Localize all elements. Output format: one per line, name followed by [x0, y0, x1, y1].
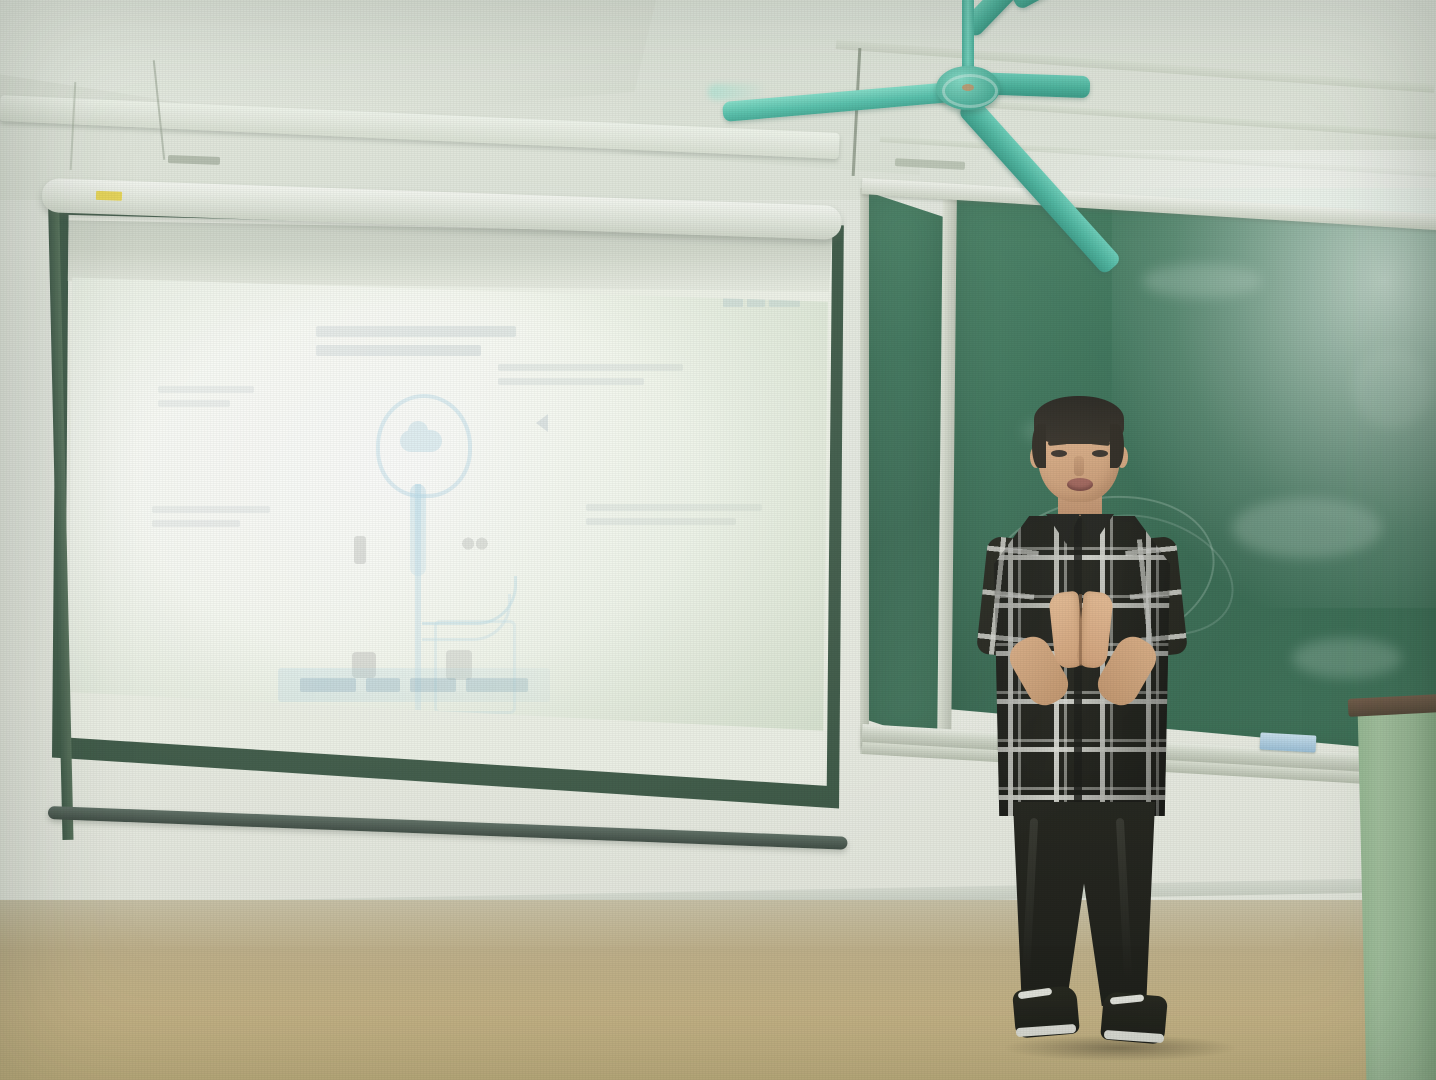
nose: [1074, 456, 1084, 476]
classroom-presentation-photo: [0, 0, 1436, 1080]
blackboard-frame-edge: [860, 188, 869, 754]
people-icon: [458, 530, 492, 564]
cloud-icon: [400, 430, 442, 452]
chalk-box-icon: [1260, 732, 1317, 752]
hair: [1110, 424, 1124, 468]
slide-text-block-right-lower: [586, 504, 762, 532]
ceiling-fan: [940, 0, 941, 1]
slide-small-icon: [354, 536, 366, 564]
slide-bottom-banner: [278, 668, 550, 702]
ceiling-vent: [168, 155, 220, 165]
slide-text-block-left-upper: [158, 386, 254, 414]
eye: [1092, 450, 1108, 457]
yellow-label-sticker: [96, 191, 122, 201]
fan-blade-motion-blur: [708, 84, 766, 100]
fan-hub-screw: [962, 84, 974, 91]
blackboard-panel-left: [862, 190, 946, 746]
electrical-conduit: [70, 82, 77, 170]
eye: [1051, 450, 1067, 457]
slide-text-block-left-lower: [152, 506, 270, 534]
palms-together-seam: [1079, 594, 1082, 666]
projected-slide: [66, 268, 834, 750]
mouth: [1067, 478, 1093, 491]
slide-title: [316, 326, 556, 364]
slide-text-block-right-upper: [498, 364, 683, 392]
fan-down-rod: [962, 0, 974, 72]
hair: [1032, 424, 1046, 468]
slide-triangle-bullet-icon: [536, 414, 548, 432]
fan-hub-ring: [942, 74, 998, 108]
presenter: [980, 398, 1230, 1058]
